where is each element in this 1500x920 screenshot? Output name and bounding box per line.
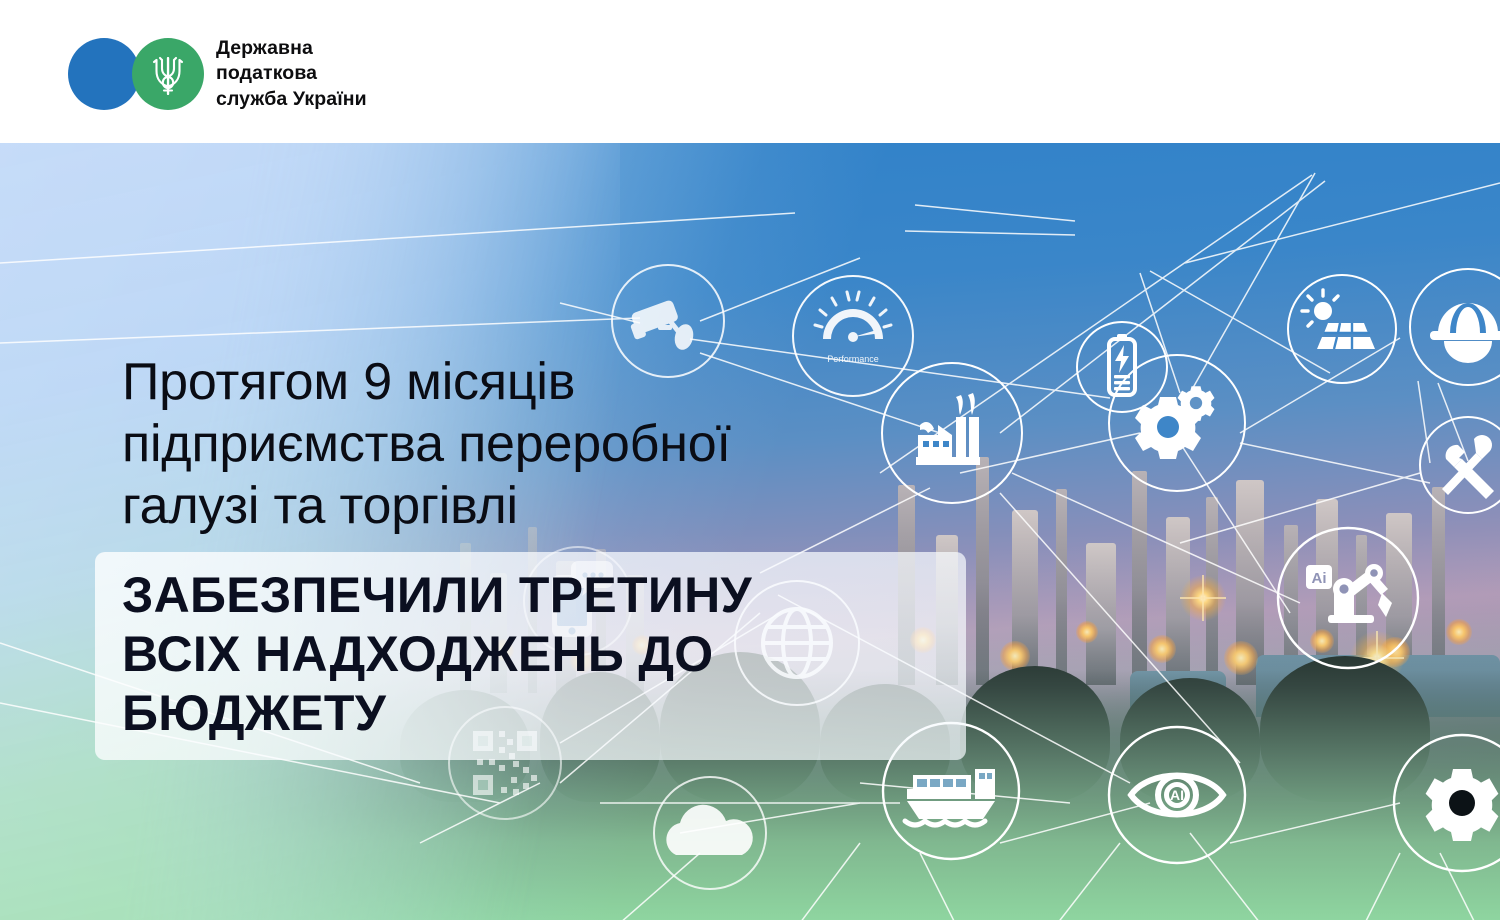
- trident-icon: [132, 38, 204, 110]
- icon-node-gear: [1394, 735, 1500, 871]
- banner-stage: Державна податкова служба України: [0, 0, 1500, 920]
- organization-logo: Державна податкова служба України: [68, 36, 367, 112]
- network-lines: [0, 173, 1500, 920]
- icon-node-wrench-screwdriver: [1420, 417, 1500, 513]
- headline-text: ЗАБЕЗПЕЧИЛИ ТРЕТИНУ ВСІХ НАДХОДЖЕНЬ ДО Б…: [122, 566, 1002, 743]
- icon-node-battery: [1077, 322, 1167, 412]
- logo-blue-circle: [68, 38, 140, 110]
- logo-marks: [68, 38, 204, 110]
- icon-node-gears: [1109, 355, 1245, 491]
- icon-node-solar-panel: [1288, 275, 1396, 383]
- icon-node-cloud: [654, 777, 766, 889]
- icon-node-ai-eye: [1109, 727, 1245, 863]
- logo-organization-name: Державна податкова служба України: [216, 36, 367, 112]
- icon-node-hard-hat: [1410, 269, 1500, 385]
- header-bar: Державна податкова служба України: [0, 0, 1500, 143]
- lead-text-block: Протягом 9 місяців підприємства переробн…: [122, 352, 1022, 538]
- lead-text: Протягом 9 місяців підприємства переробн…: [122, 352, 1022, 538]
- icon-node-robot-arm: [1278, 528, 1418, 668]
